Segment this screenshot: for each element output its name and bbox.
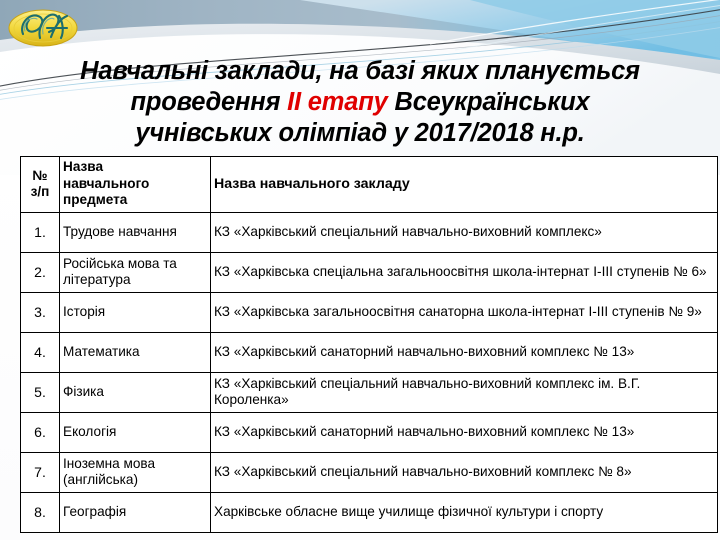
- cell-number: 3.: [21, 293, 60, 333]
- title-line-2-post: Всеукраїнських: [388, 88, 590, 116]
- header-subject-line2: навчального: [63, 176, 149, 191]
- cell-institution: КЗ «Харківський спеціальний навчально-ви…: [211, 213, 718, 253]
- header-cell-institution: Назва навчального закладу: [211, 157, 718, 213]
- table-row: 7. Іноземна мова (англійська) КЗ «Харків…: [21, 453, 718, 493]
- title-accent-stage: II етапу: [287, 88, 387, 116]
- cell-institution: КЗ «Харківський санаторний навчально-вих…: [211, 333, 718, 373]
- table-body: 1. Трудове навчання КЗ «Харківський спец…: [21, 213, 718, 533]
- cell-institution: КЗ «Харківський санаторний навчально-вих…: [211, 413, 718, 453]
- cell-subject: Математика: [60, 333, 211, 373]
- page-title: Навчальні заклади, на базі яких плануєть…: [18, 56, 702, 149]
- table-row: 2. Російська мова та література КЗ «Харк…: [21, 253, 718, 293]
- title-line-3: учнівських олімпіад у 2017/2018 н.р.: [18, 118, 702, 149]
- cell-institution: Харківське обласне вище училище фізичної…: [211, 493, 718, 533]
- cell-subject: Фізика: [60, 373, 211, 413]
- cell-institution: КЗ «Харківська загальноосвітня санаторна…: [211, 293, 718, 333]
- header-number-line2: з/п: [31, 184, 50, 199]
- table-header-row: № з/п Назва навчального предмета Назва н…: [21, 157, 718, 213]
- table-row: 3. Історія КЗ «Харківська загальноосвітн…: [21, 293, 718, 333]
- cell-subject: Географія: [60, 493, 211, 533]
- title-line-2: проведення II етапу Всеукраїнських: [18, 87, 702, 118]
- cell-institution: КЗ «Харківський спеціальний навчально-ви…: [211, 453, 718, 493]
- cell-number: 4.: [21, 333, 60, 373]
- cell-subject: Екологія: [60, 413, 211, 453]
- cell-number: 7.: [21, 453, 60, 493]
- table-row: 6. Екологія КЗ «Харківський санаторний н…: [21, 413, 718, 453]
- institutions-table: № з/п Назва навчального предмета Назва н…: [20, 156, 718, 533]
- cell-subject: Російська мова та література: [60, 253, 211, 293]
- cell-number: 6.: [21, 413, 60, 453]
- header-number-line1: №: [32, 168, 47, 183]
- table-row: 8. Географія Харківське обласне вище учи…: [21, 493, 718, 533]
- cell-institution: КЗ «Харківський спеціальний навчально-ви…: [211, 373, 718, 413]
- cell-subject: Історія: [60, 293, 211, 333]
- institutions-table-wrapper: № з/п Назва навчального предмета Назва н…: [20, 156, 696, 533]
- cell-number: 5.: [21, 373, 60, 413]
- emblem-logo-icon: [7, 4, 80, 50]
- cell-subject: Трудове навчання: [60, 213, 211, 253]
- cell-number: 8.: [21, 493, 60, 533]
- cell-institution: КЗ «Харківська спеціальна загальноосвітн…: [211, 253, 718, 293]
- cell-number: 2.: [21, 253, 60, 293]
- title-line-1: Навчальні заклади, на базі яких плануєть…: [18, 56, 702, 87]
- header-cell-number: № з/п: [21, 157, 60, 213]
- table-row: 4. Математика КЗ «Харківський санаторний…: [21, 333, 718, 373]
- header-cell-subject: Назва навчального предмета: [60, 157, 211, 213]
- slide-canvas: Навчальні заклади, на базі яких плануєть…: [0, 0, 720, 540]
- title-line-2-pre: проведення: [131, 88, 288, 116]
- cell-subject: Іноземна мова (англійська): [60, 453, 211, 493]
- header-subject-line3: предмета: [63, 192, 127, 207]
- header-subject-line1: Назва: [63, 159, 103, 174]
- table-row: 5. Фізика КЗ «Харківський спеціальний на…: [21, 373, 718, 413]
- table-head: № з/п Назва навчального предмета Назва н…: [21, 157, 718, 213]
- table-row: 1. Трудове навчання КЗ «Харківський спец…: [21, 213, 718, 253]
- cell-number: 1.: [21, 213, 60, 253]
